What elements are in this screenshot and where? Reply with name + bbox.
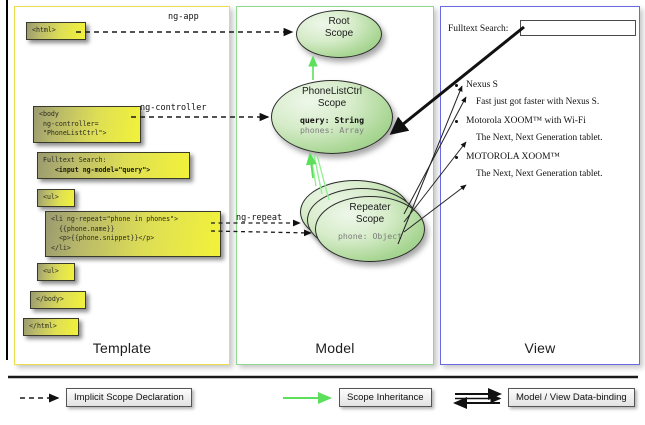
bullet-icon bbox=[455, 120, 458, 123]
bullet-icon bbox=[455, 156, 458, 159]
legend-item-scope-inheritance: Scope Inheritance bbox=[339, 388, 432, 407]
scope-root-line2: Scope bbox=[297, 28, 381, 40]
phone-name: Nexus S bbox=[466, 80, 634, 90]
view-phone-list: Nexus S Fast just got faster with Nexus … bbox=[466, 80, 634, 188]
list-item: Nexus S Fast just got faster with Nexus … bbox=[466, 80, 634, 107]
relation-label-ng-controller: ng-controller bbox=[140, 103, 207, 113]
scope-root-line1: Root bbox=[297, 16, 381, 28]
legend-item-model-view-data-binding: Model / View Data-binding bbox=[508, 388, 635, 407]
code-box-li-ng-repeat: <li ng-repeat="phone in phones"> {{phone… bbox=[45, 211, 221, 257]
view-search-label: Fulltext Search: bbox=[448, 24, 508, 34]
scope-root: Root Scope bbox=[296, 10, 382, 58]
code-box-ul-open: <ul> bbox=[37, 189, 75, 207]
legend-item-implicit-scope-declaration: Implicit Scope Declaration bbox=[66, 388, 192, 407]
code-box-fulltext-search-line2: <input ng-model="query"> bbox=[55, 166, 150, 174]
phone-snippet: The Next, Next Generation tablet. bbox=[476, 169, 634, 179]
code-box-html-close: </html> bbox=[23, 318, 79, 336]
code-box-body-close: </body> bbox=[30, 291, 86, 309]
diagram-root: Template Model View <html> <body ng-cont… bbox=[0, 0, 645, 425]
column-title-view: View bbox=[441, 340, 639, 356]
scope-field-phones: phones: Array bbox=[272, 125, 392, 136]
scope-repeater-line1: Repeater bbox=[316, 202, 424, 214]
legend-arrow-databinding bbox=[455, 394, 500, 403]
phone-name: MOTOROLA XOOM™ bbox=[466, 152, 634, 162]
code-box-fulltext-search: Fulltext Search: <input ng-model="query"… bbox=[37, 152, 190, 179]
phone-snippet: The Next, Next Generation tablet. bbox=[476, 133, 634, 143]
code-box-html-open: <html> bbox=[26, 22, 86, 40]
scope-phonelistctrl-line2: Scope bbox=[272, 98, 392, 110]
phone-snippet: Fast just got faster with Nexus S. bbox=[476, 97, 634, 107]
scope-field-phone: phone: Object bbox=[316, 231, 424, 242]
column-template: Template bbox=[14, 6, 230, 365]
list-item: MOTOROLA XOOM™ The Next, Next Generation… bbox=[466, 152, 634, 179]
code-box-ul-close: <ul> bbox=[37, 263, 75, 281]
code-box-body-controller: <body ng-controller= "PhoneListCtrl"> bbox=[33, 106, 141, 143]
scope-phonelistctrl: PhoneListCtrl Scope query: String phones… bbox=[271, 80, 393, 154]
view-search-input[interactable] bbox=[520, 20, 636, 36]
bullet-icon bbox=[455, 84, 458, 87]
code-box-fulltext-search-line1: Fulltext Search: bbox=[43, 156, 107, 164]
scope-field-query: query: String bbox=[272, 115, 392, 126]
column-title-model: Model bbox=[237, 340, 433, 356]
scope-repeater-line2: Scope bbox=[316, 214, 424, 226]
relation-label-ng-repeat: ng-repeat bbox=[236, 213, 282, 223]
scope-phonelistctrl-line1: PhoneListCtrl bbox=[272, 86, 392, 98]
list-item: Motorola XOOM™ with Wi-Fi The Next, Next… bbox=[466, 116, 634, 143]
phone-name: Motorola XOOM™ with Wi-Fi bbox=[466, 116, 634, 126]
relation-label-ng-app: ng-app bbox=[168, 12, 199, 22]
scope-repeater: Repeater Scope phone: Object bbox=[315, 196, 425, 262]
frame-left-rule bbox=[6, 0, 8, 360]
column-title-template: Template bbox=[15, 340, 229, 356]
